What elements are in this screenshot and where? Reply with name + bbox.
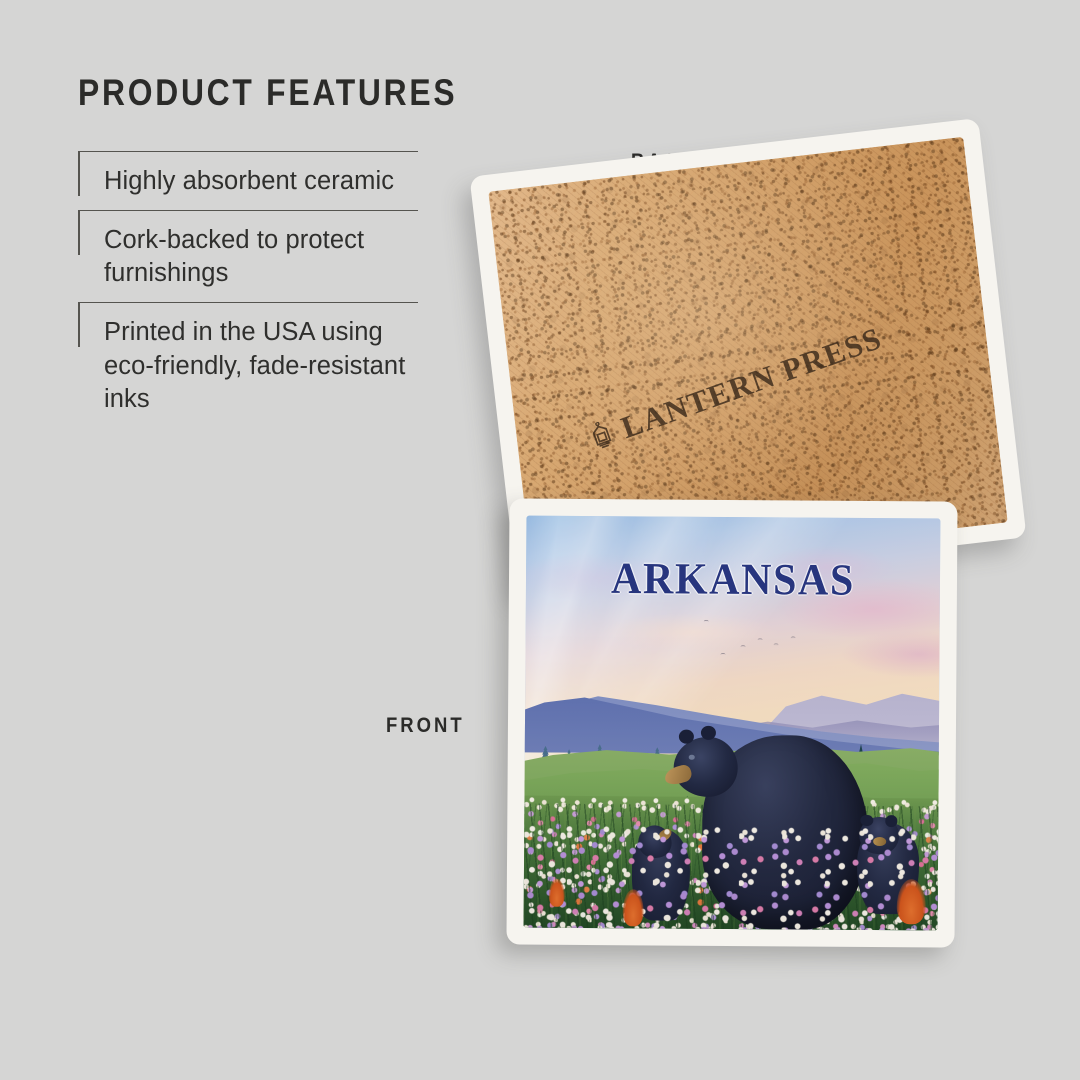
list-item: Highly absorbent ceramic [78, 151, 418, 210]
product-features-panel: PRODUCT FEATURES Highly absorbent cerami… [78, 74, 418, 428]
coaster-artwork: ARKANSAS [524, 516, 941, 931]
page-title: PRODUCT FEATURES [78, 74, 370, 111]
bear-mother-eye [689, 755, 695, 760]
bear-ear-left [679, 729, 694, 743]
product-feature-graphic: PRODUCT FEATURES Highly absorbent cerami… [0, 0, 1080, 1080]
list-item: Printed in the USA using eco-friendly, f… [78, 302, 418, 427]
feature-list: Highly absorbent ceramic Cork-backed to … [78, 151, 418, 428]
paintbrush-flower [896, 879, 925, 925]
front-view-label: FRONT [386, 714, 465, 738]
coaster-front-view: ARKANSAS [506, 498, 957, 947]
feature-text: Cork-backed to protect furnishings [104, 224, 418, 290]
artwork-title: ARKANSAS [526, 553, 940, 607]
foreground-flowers [524, 820, 939, 930]
feature-text: Highly absorbent ceramic [104, 165, 418, 198]
list-item: Cork-backed to protect furnishings [78, 210, 418, 302]
feature-text: Printed in the USA using eco-friendly, f… [104, 316, 418, 415]
